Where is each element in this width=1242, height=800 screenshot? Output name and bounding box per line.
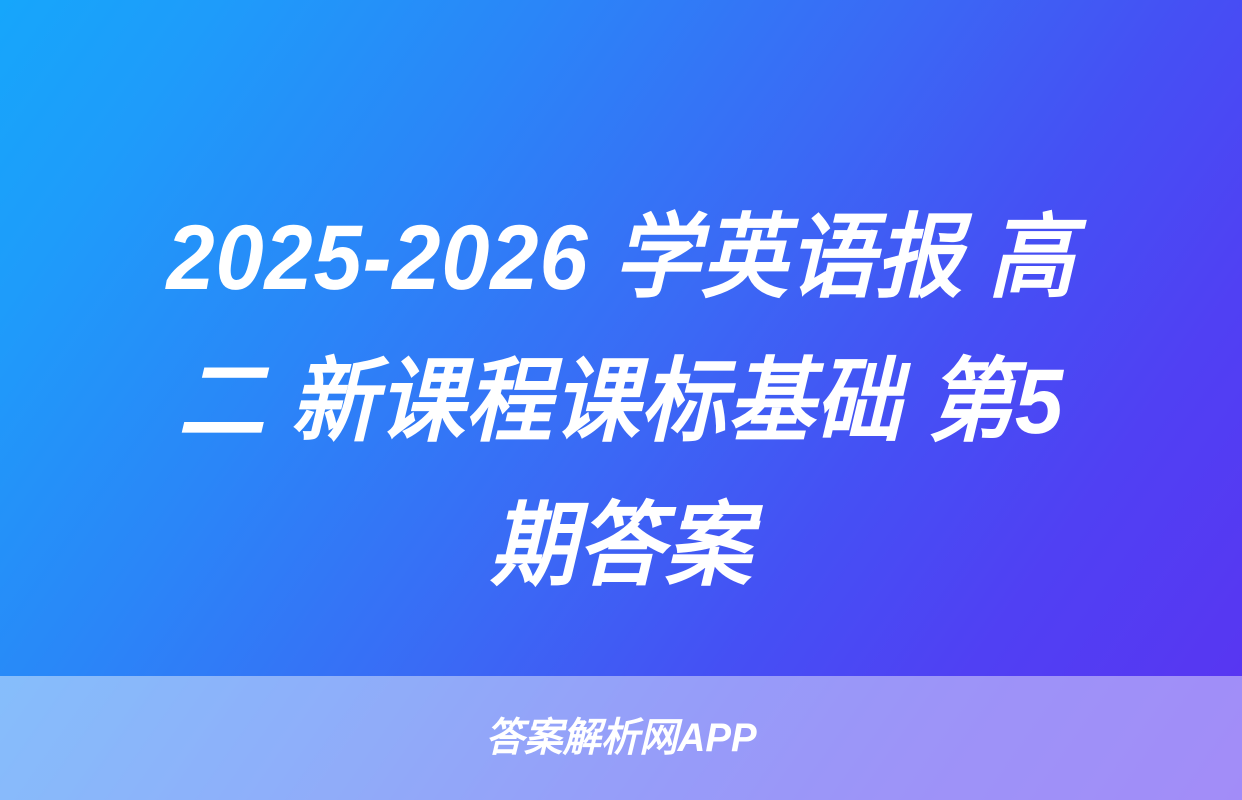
title-block: 2025-2026 学英语报 高 二 新课程课标基础 第5 期答案: [0, 186, 1242, 618]
app-brand-label: 答案解析网APP: [486, 718, 757, 758]
title-line-1: 2025-2026 学英语报 高: [82, 186, 1159, 330]
footer-brand-bar: 答案解析网APP: [0, 676, 1242, 800]
poster-canvas: 2025-2026 学英语报 高 二 新课程课标基础 第5 期答案 答案解析网A…: [0, 0, 1242, 800]
title-line-2: 二 新课程课标基础 第5: [82, 330, 1159, 474]
title-line-3: 期答案: [82, 474, 1159, 618]
